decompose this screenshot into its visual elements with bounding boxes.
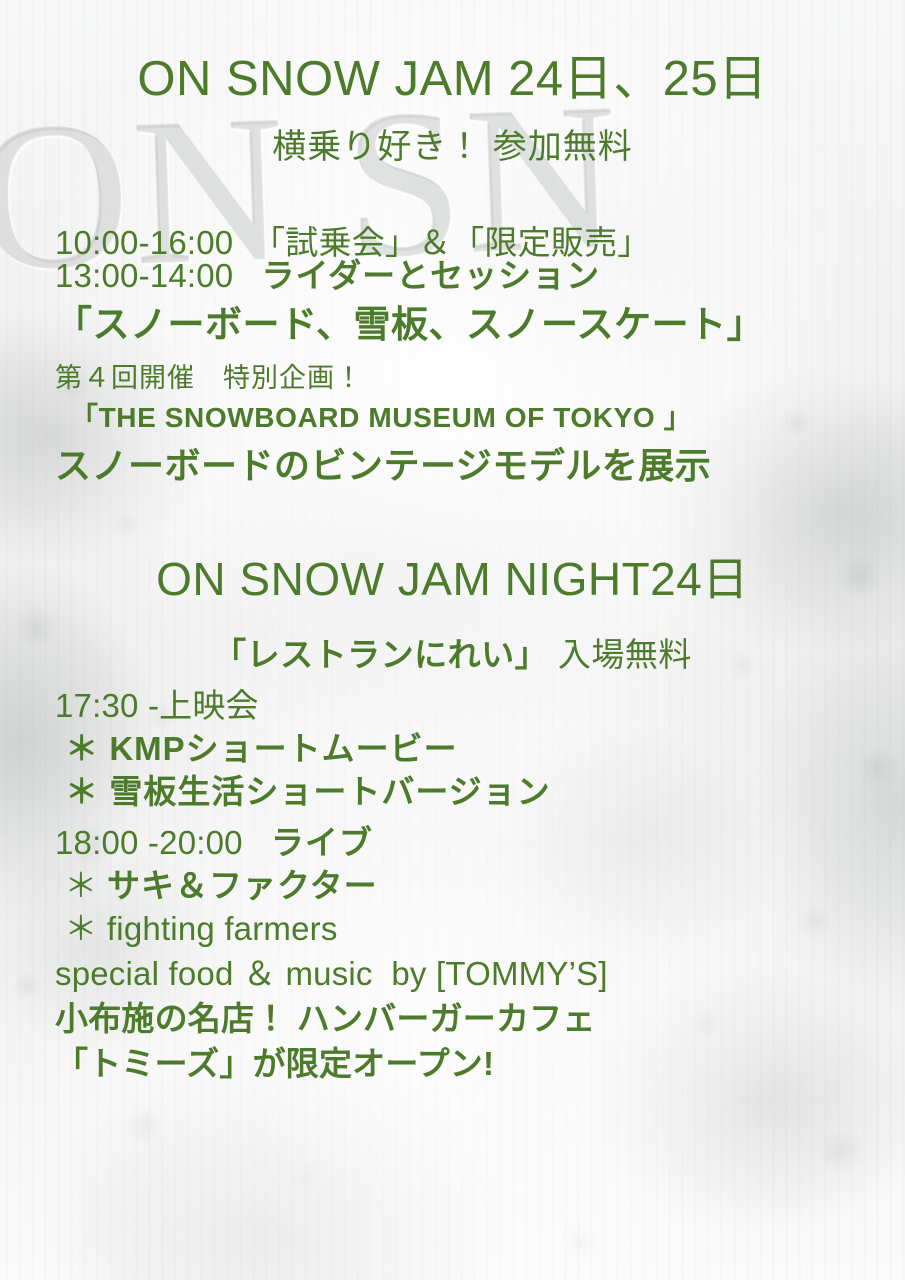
night-venue-name: 「レストランにれい」 [213,636,548,673]
night-title: ON SNOW JAM NIGHT24日 [0,484,905,602]
day-schedule-row-1: 10:00-16:00 「試乗会」＆「限定販売」 [0,164,905,259]
night-live-act-1: ＊ サキ＆ファクター [0,859,905,902]
day-schedule-row-1-text: 「試乗会」＆「限定販売」 [252,224,650,261]
night-screening-time: 17:30 -上映会 [0,671,905,722]
museum-title: 「THE SNOWBOARD MUSEUM OF TOKYO 」 [0,392,905,432]
page-title: ON SNOW JAM 24日、25日 [0,0,905,104]
night-screening-item-1-label: ＊ KMPショートムービー [55,730,458,767]
night-live-row: 18:00 -20:00 ライブ [0,808,905,859]
day-schedule-row-2-text: ライダーとセッション [261,257,600,294]
day-schedule-row-2-gap [233,257,261,294]
night-live-label: ライブ [271,824,373,861]
night-venue: 「レストランにれい」 入場無料 [0,602,905,671]
night-screening-item-1: ＊ KMPショートムービー [0,722,905,765]
night-venue-note: 入場無料 [548,636,692,673]
food-special-line: special food ＆ music by [TOMMY’S] [0,945,905,990]
poster-canvas: ON SN ON SNOW JAM 24日、25日 横乗り好き！ 参加無料 10… [0,0,905,1280]
page-subtitle: 横乗り好き！ 参加無料 [0,104,905,164]
day-schedule-genres: 「スノーボード、雪板、スノースケート」 [0,292,905,343]
museum-description: スノーボードのビンテージモデルを展示 [0,432,905,484]
museum-edition-label: 第４回開催 特別企画！ [0,343,905,392]
night-live-gap [243,824,271,861]
night-live-act-1-name: サキ＆ファクター [107,867,378,904]
food-open-line: 「トミーズ」が限定オープン! [0,1035,905,1080]
night-live-time: 18:00 -20:00 [55,824,243,861]
day-schedule-row-1-gap [233,224,252,261]
poster-content: ON SNOW JAM 24日、25日 横乗り好き！ 参加無料 10:00-16… [0,0,905,1280]
night-live-act-1-bullet: ＊ [55,867,107,904]
night-screening-item-2: ＊ 雪板生活ショートバージョン [0,765,905,808]
night-screening-item-2-label: ＊ 雪板生活ショートバージョン [55,773,551,810]
day-schedule-row-1-time: 10:00-16:00 [55,224,233,261]
day-schedule-row-2: 13:00-14:00 ライダーとセッション [0,259,905,292]
food-open-shop-name: 「トミーズ」 [55,1045,253,1082]
food-shop-text: 小布施の名店！ ハンバーガーカフェ [55,1000,596,1037]
day-schedule-row-2-time: 13:00-14:00 [55,257,233,294]
food-shop-line: 小布施の名店！ ハンバーガーカフェ [0,990,905,1035]
food-open-rest: が限定オープン! [253,1045,495,1082]
night-live-act-2: ＊ fighting farmers [0,902,905,945]
